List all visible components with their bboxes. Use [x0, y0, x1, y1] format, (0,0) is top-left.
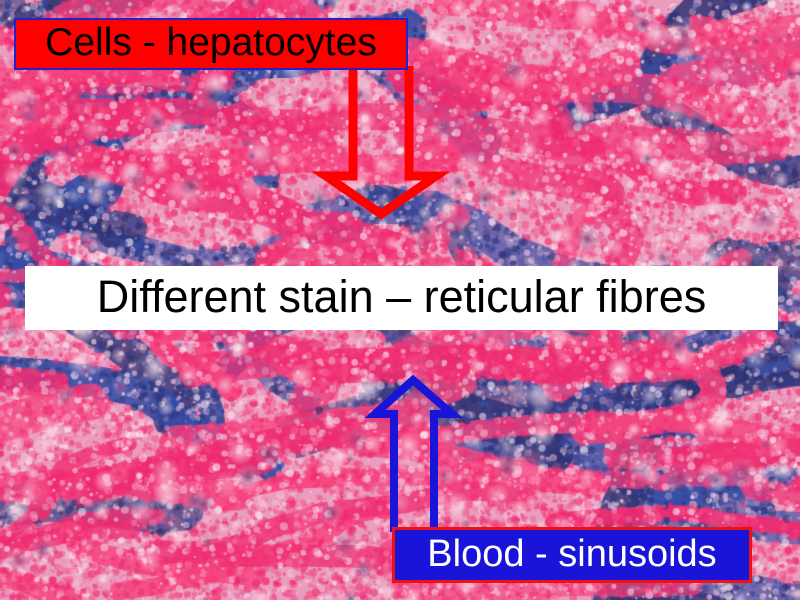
label-cells-hepatocytes: Cells - hepatocytes: [14, 18, 408, 70]
down-arrow-icon: [318, 64, 448, 224]
slide-canvas: Cells - hepatocytes Different stain – re…: [0, 0, 800, 600]
label-cells-hepatocytes-text: Cells - hepatocytes: [45, 23, 377, 62]
up-arrow-icon: [368, 374, 468, 534]
label-blood-sinusoids-text: Blood - sinusoids: [427, 535, 716, 573]
label-different-stain-text: Different stain – reticular fibres: [97, 274, 706, 319]
label-blood-sinusoids: Blood - sinusoids: [392, 527, 752, 583]
label-different-stain: Different stain – reticular fibres: [25, 266, 778, 330]
